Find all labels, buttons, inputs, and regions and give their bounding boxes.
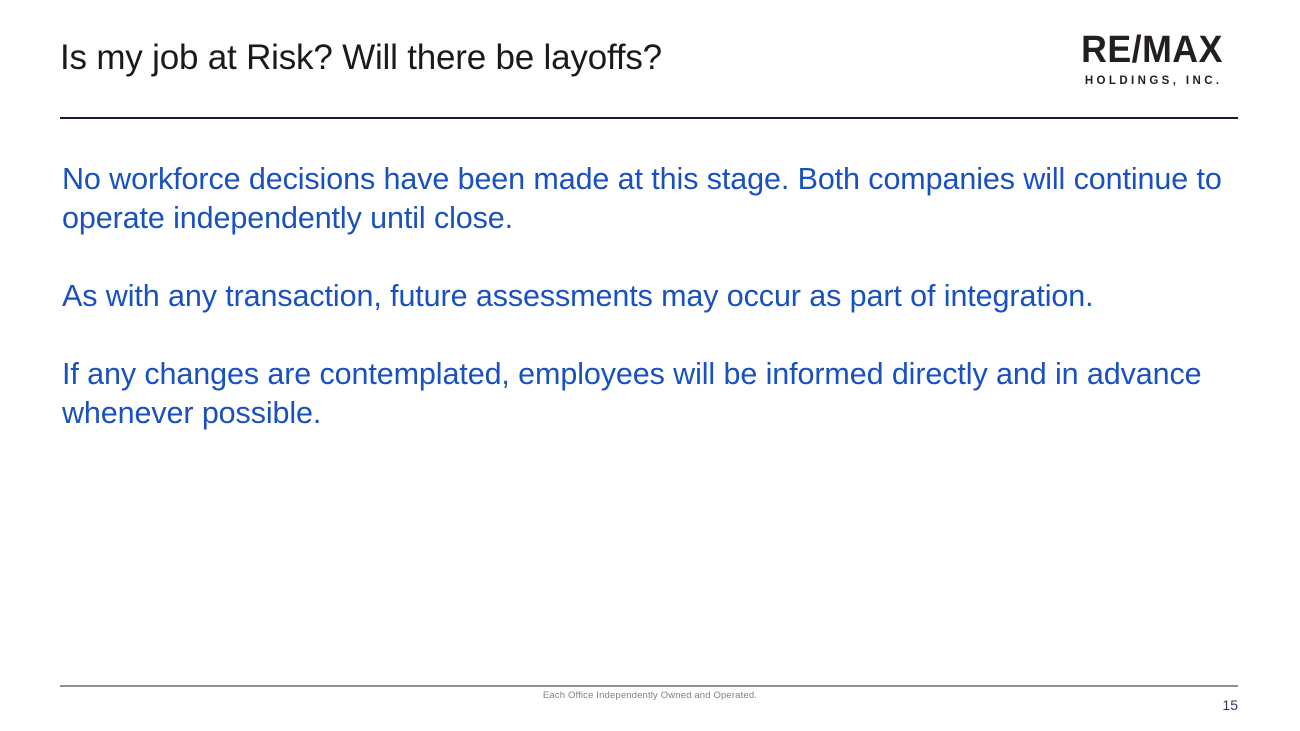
header-divider xyxy=(60,117,1238,119)
body-content: No workforce decisions have been made at… xyxy=(62,160,1234,433)
remax-holdings-subtitle: HOLDINGS, INC. xyxy=(1064,74,1240,88)
page-title: Is my job at Risk? Will there be layoffs… xyxy=(60,36,1000,80)
remax-wordmark: RE/MAX xyxy=(1069,30,1234,70)
remax-holdings-logo: RE/MAX HOLDINGS, INC. xyxy=(1064,30,1240,88)
body-paragraph: As with any transaction, future assessme… xyxy=(62,277,1234,316)
slide: Is my job at Risk? Will there be layoffs… xyxy=(0,0,1300,731)
footer-disclaimer: Each Office Independently Owned and Oper… xyxy=(0,689,1300,703)
page-number: 15 xyxy=(1222,696,1238,714)
body-paragraph: No workforce decisions have been made at… xyxy=(62,160,1234,238)
footer-divider xyxy=(60,685,1238,687)
body-paragraph: If any changes are contemplated, employe… xyxy=(62,355,1234,433)
